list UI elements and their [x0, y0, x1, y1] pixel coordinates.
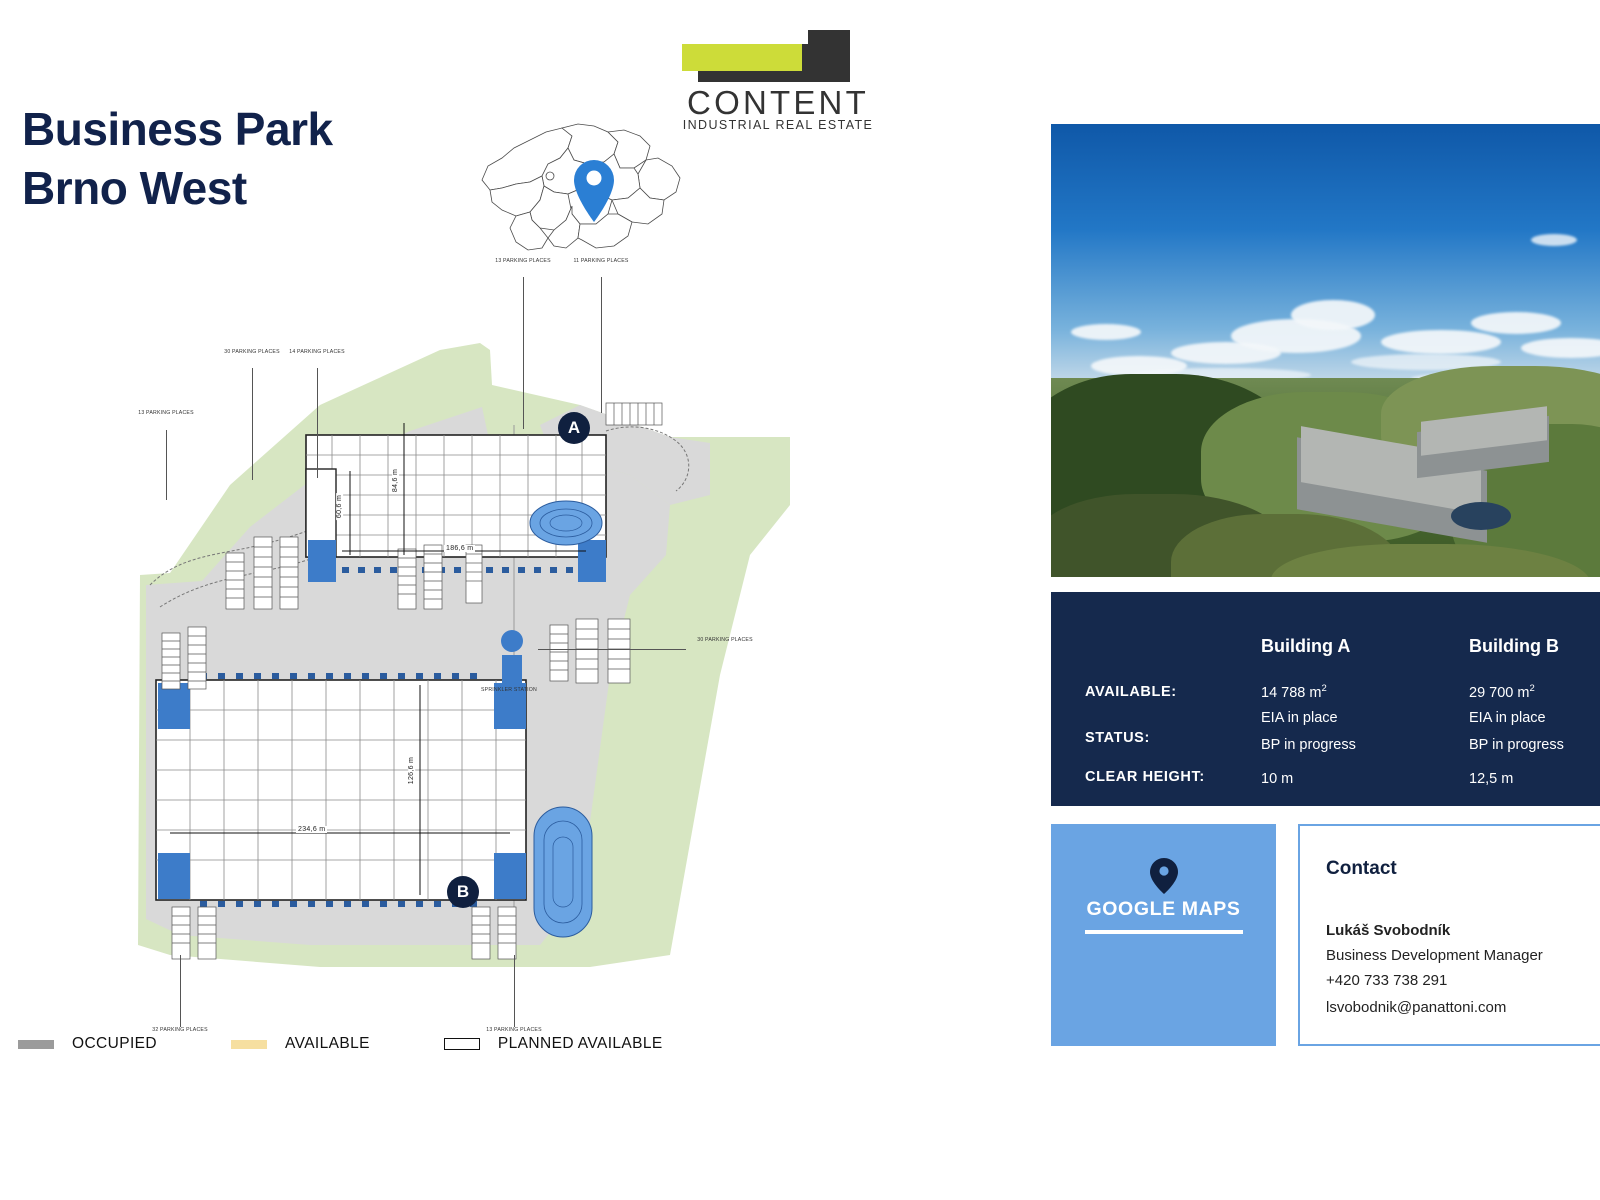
sprinkler-building-icon	[502, 655, 522, 683]
logo-tagline: INDUSTRIAL REAL ESTATE	[672, 118, 884, 132]
parking-label-7: 32 PARKING PLACES	[143, 1027, 217, 1034]
leader-line	[166, 430, 167, 500]
retention-pond-lower	[534, 807, 592, 937]
building-specs-panel: Building A Building B AVAILABLE: STATUS:…	[1051, 592, 1600, 806]
contact-email[interactable]: lsvobodnik@panattoni.com	[1326, 999, 1506, 1016]
dimension-60: 60,6 m	[336, 493, 343, 520]
building-a-available-value: 14 788 m	[1261, 685, 1321, 701]
sprinkler-station-label: SPRINKLER STATION	[478, 687, 540, 694]
leader-line	[538, 649, 686, 650]
parking-label-5: 11 PARKING PLACES	[564, 258, 638, 265]
building-a-status-2: BP in progress	[1261, 737, 1356, 753]
row-label-available: AVAILABLE:	[1085, 684, 1177, 700]
legend-label-planned: PLANNED AVAILABLE	[498, 1035, 663, 1053]
building-b-office-bl	[158, 853, 190, 899]
leader-line	[317, 368, 318, 478]
legend: OCCUPIED AVAILABLE PLANNED AVAILABLE	[18, 1035, 737, 1053]
building-b-status-2: BP in progress	[1469, 737, 1564, 753]
parking-label-3: 14 PARKING PLACES	[280, 349, 354, 356]
building-b-heading: Building B	[1469, 636, 1559, 657]
contact-phone[interactable]: +420 733 738 291	[1326, 972, 1447, 989]
building-a-office-left	[308, 540, 336, 582]
legend-swatch-available	[231, 1040, 267, 1049]
unit-superscript: 2	[1529, 683, 1534, 694]
google-maps-underline	[1085, 930, 1243, 934]
legend-item-available: AVAILABLE	[231, 1035, 370, 1053]
row-label-status: STATUS:	[1085, 730, 1150, 746]
legend-label-occupied: OCCUPIED	[72, 1035, 157, 1053]
site-plan: A B 84,6 m 60,6 m 186,6 m 126,6 m 234,6 …	[110, 255, 810, 1015]
logo-mark-icon	[672, 22, 884, 82]
parking-label-4: 13 PARKING PLACES	[486, 258, 560, 265]
building-b-available: 29 700 m2	[1469, 683, 1535, 701]
contact-name: Lukáš Svobodník	[1326, 922, 1450, 939]
building-a-status-1: EIA in place	[1261, 710, 1338, 726]
parking-label-1: 13 PARKING PLACES	[129, 410, 203, 417]
leader-line	[523, 277, 524, 429]
google-maps-button[interactable]: GOOGLE MAPS	[1051, 824, 1276, 1046]
aerial-site-photo	[1051, 124, 1600, 577]
legend-item-planned: PLANNED AVAILABLE	[444, 1035, 663, 1053]
building-b-status-1: EIA in place	[1469, 710, 1546, 726]
content-logo: CONTENT INDUSTRIAL REAL ESTATE	[672, 22, 884, 134]
legend-swatch-occupied	[18, 1040, 54, 1049]
page-title: Business Park Brno West	[22, 100, 333, 218]
retention-pond-upper	[530, 501, 602, 545]
leader-line	[601, 277, 602, 413]
parking-label-8: 13 PARKING PLACES	[477, 1027, 551, 1034]
building-b-available-value: 29 700 m	[1469, 685, 1529, 701]
building-b-office-br	[494, 853, 526, 899]
building-a-available: 14 788 m2	[1261, 683, 1327, 701]
page-root: Business Park Brno West CONTENT INDUSTRI…	[0, 0, 1600, 1200]
logo-notch-shape	[698, 30, 808, 44]
building-b-office-tl	[158, 683, 190, 729]
unit-superscript: 2	[1321, 683, 1326, 694]
page-title-line2: Brno West	[22, 159, 333, 218]
leader-line	[252, 368, 253, 480]
page-title-line1: Business Park	[22, 100, 333, 159]
logo-wordmark: CONTENT	[672, 84, 884, 122]
building-a-office-right	[578, 540, 606, 582]
parking-label-2: 30 PARKING PLACES	[215, 349, 289, 356]
map-pin-icon	[1150, 858, 1178, 899]
legend-item-occupied: OCCUPIED	[18, 1035, 157, 1053]
dimension-84: 84,6 m	[392, 467, 399, 494]
leader-line	[514, 955, 515, 1027]
building-b-badge: B	[447, 876, 479, 908]
contact-card: Contact Lukáš Svobodník Business Develop…	[1298, 824, 1600, 1046]
building-b-outline	[156, 680, 526, 900]
contact-role: Business Development Manager	[1326, 947, 1543, 964]
building-a-docks	[342, 567, 573, 573]
sprinkler-tank-icon	[501, 630, 523, 652]
building-a-clear-height: 10 m	[1261, 771, 1293, 787]
contact-heading: Contact	[1326, 858, 1397, 880]
building-a-heading: Building A	[1261, 636, 1350, 657]
czech-republic-map	[468, 118, 696, 263]
building-a-badge: A	[558, 412, 590, 444]
legend-swatch-planned	[444, 1038, 480, 1050]
parking-label-6: 30 PARKING PLACES	[688, 637, 762, 644]
legend-label-available: AVAILABLE	[285, 1035, 370, 1053]
row-label-clear-height: CLEAR HEIGHT:	[1085, 769, 1205, 785]
dimension-234: 234,6 m	[296, 826, 327, 833]
dimension-126: 126,6 m	[408, 755, 415, 786]
google-maps-label: GOOGLE MAPS	[1051, 898, 1276, 921]
logo-accent-shape	[682, 44, 802, 71]
leader-line	[180, 955, 181, 1027]
building-b-clear-height: 12,5 m	[1469, 771, 1513, 787]
dimension-186: 186,6 m	[444, 545, 475, 552]
